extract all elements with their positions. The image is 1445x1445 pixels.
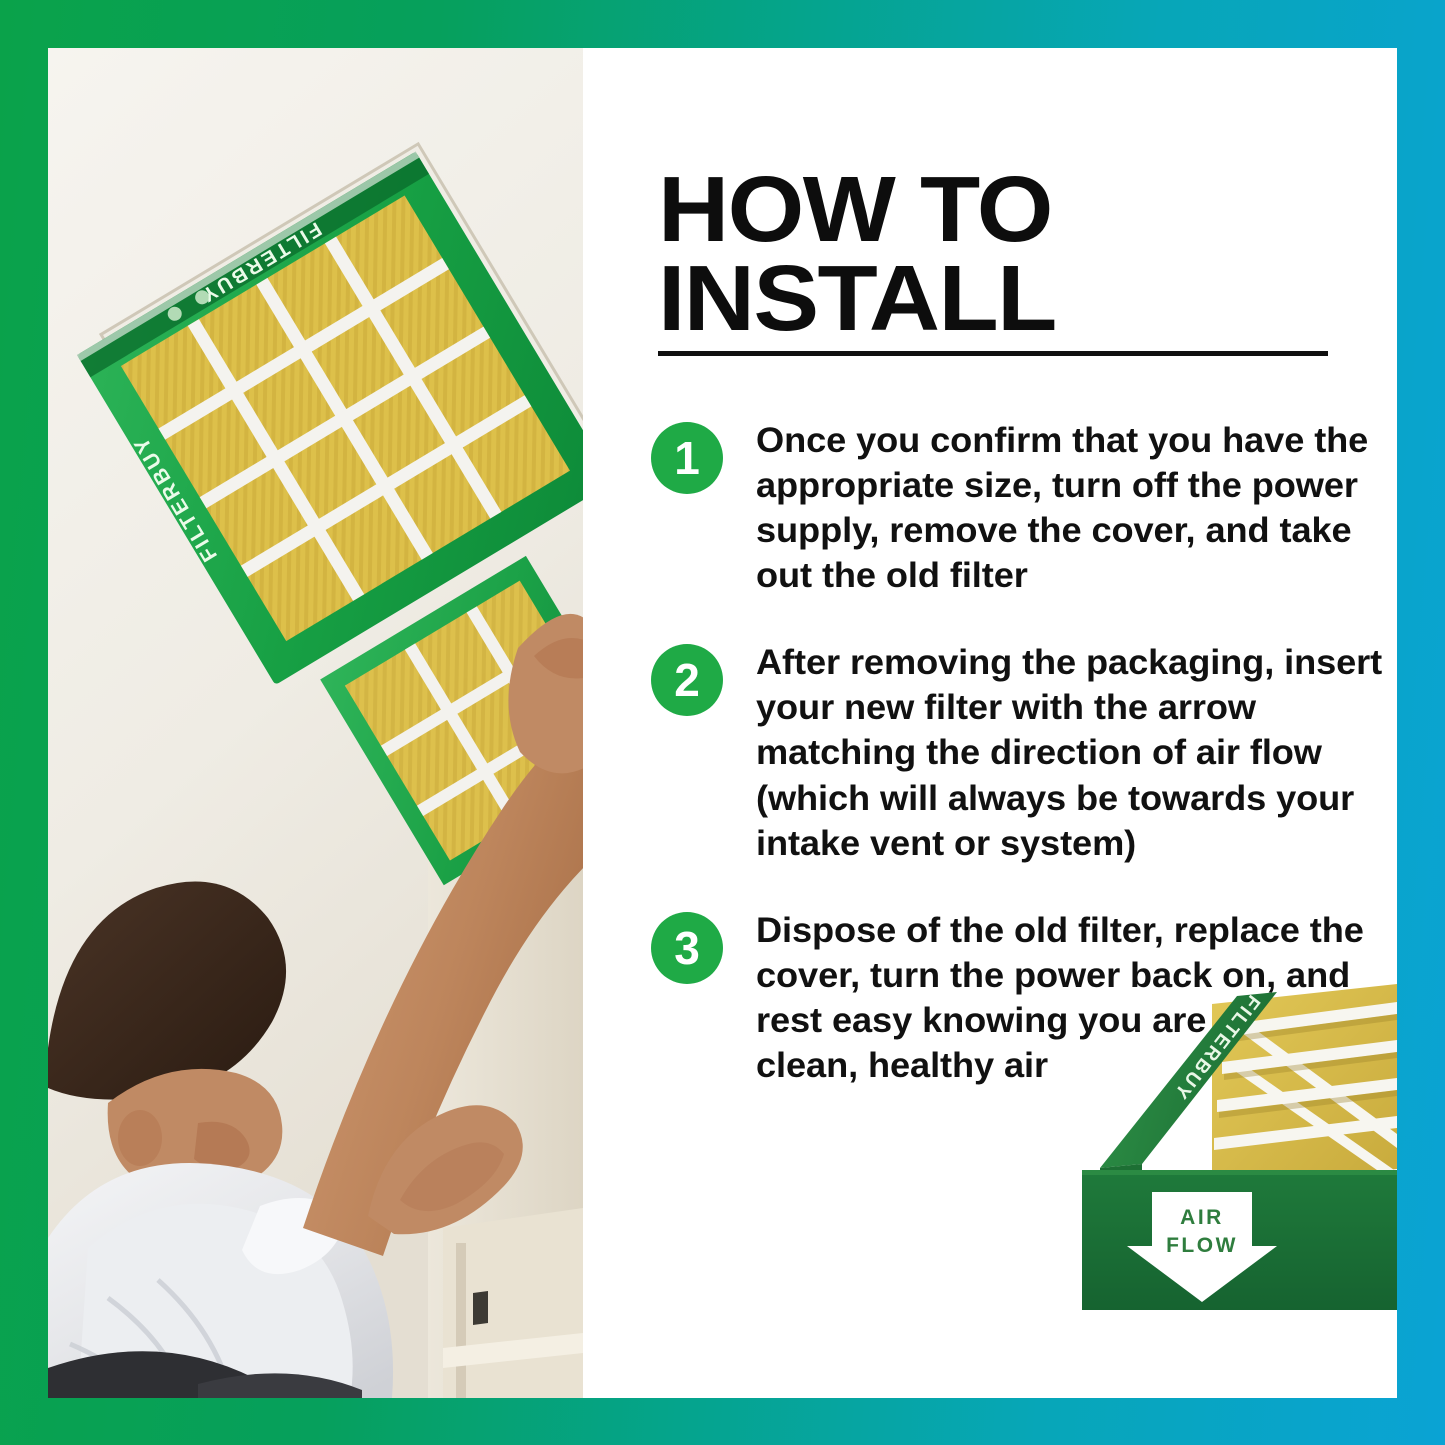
step-text-3: Dispose of the old filter, replace the c… (756, 908, 1397, 1088)
step-text-2: After removing the packaging, insert you… (756, 640, 1397, 865)
step-text-1: Once you confirm that you have the appro… (756, 418, 1397, 598)
product-left-edge (1100, 1164, 1142, 1184)
step-number-badge-1: 1 (651, 422, 723, 494)
airflow-label-line-2: FLOW (1166, 1234, 1238, 1257)
step-number-badge-3: 3 (651, 912, 723, 984)
poster-root: FILTERBUY FILTERBUY (0, 0, 1445, 1445)
title-line-1: HOW TO (658, 165, 1397, 253)
title-line-2: INSTALL (658, 254, 1397, 342)
airflow-arrow-icon (1127, 1192, 1277, 1302)
step-item-1: 1 Once you confirm that you have the app… (651, 418, 1391, 598)
product-front-face (1082, 1170, 1397, 1310)
steps-list: 1 Once you confirm that you have the app… (651, 418, 1391, 1088)
airflow-label-line-1: AIR (1180, 1206, 1224, 1229)
step-number-badge-2: 2 (651, 644, 723, 716)
installation-photo: FILTERBUY FILTERBUY (48, 48, 583, 1398)
step-item-3: 3 Dispose of the old filter, replace the… (651, 908, 1391, 1088)
instructions-panel: HOW TO INSTALL 1 Once you confirm that y… (583, 48, 1397, 1398)
step-item-2: 2 After removing the packaging, insert y… (651, 640, 1391, 865)
page-title: HOW TO INSTALL (658, 165, 1397, 342)
white-card: FILTERBUY FILTERBUY (48, 48, 1397, 1398)
photo-illustration: FILTERBUY FILTERBUY (48, 48, 583, 1398)
title-divider (658, 351, 1328, 356)
